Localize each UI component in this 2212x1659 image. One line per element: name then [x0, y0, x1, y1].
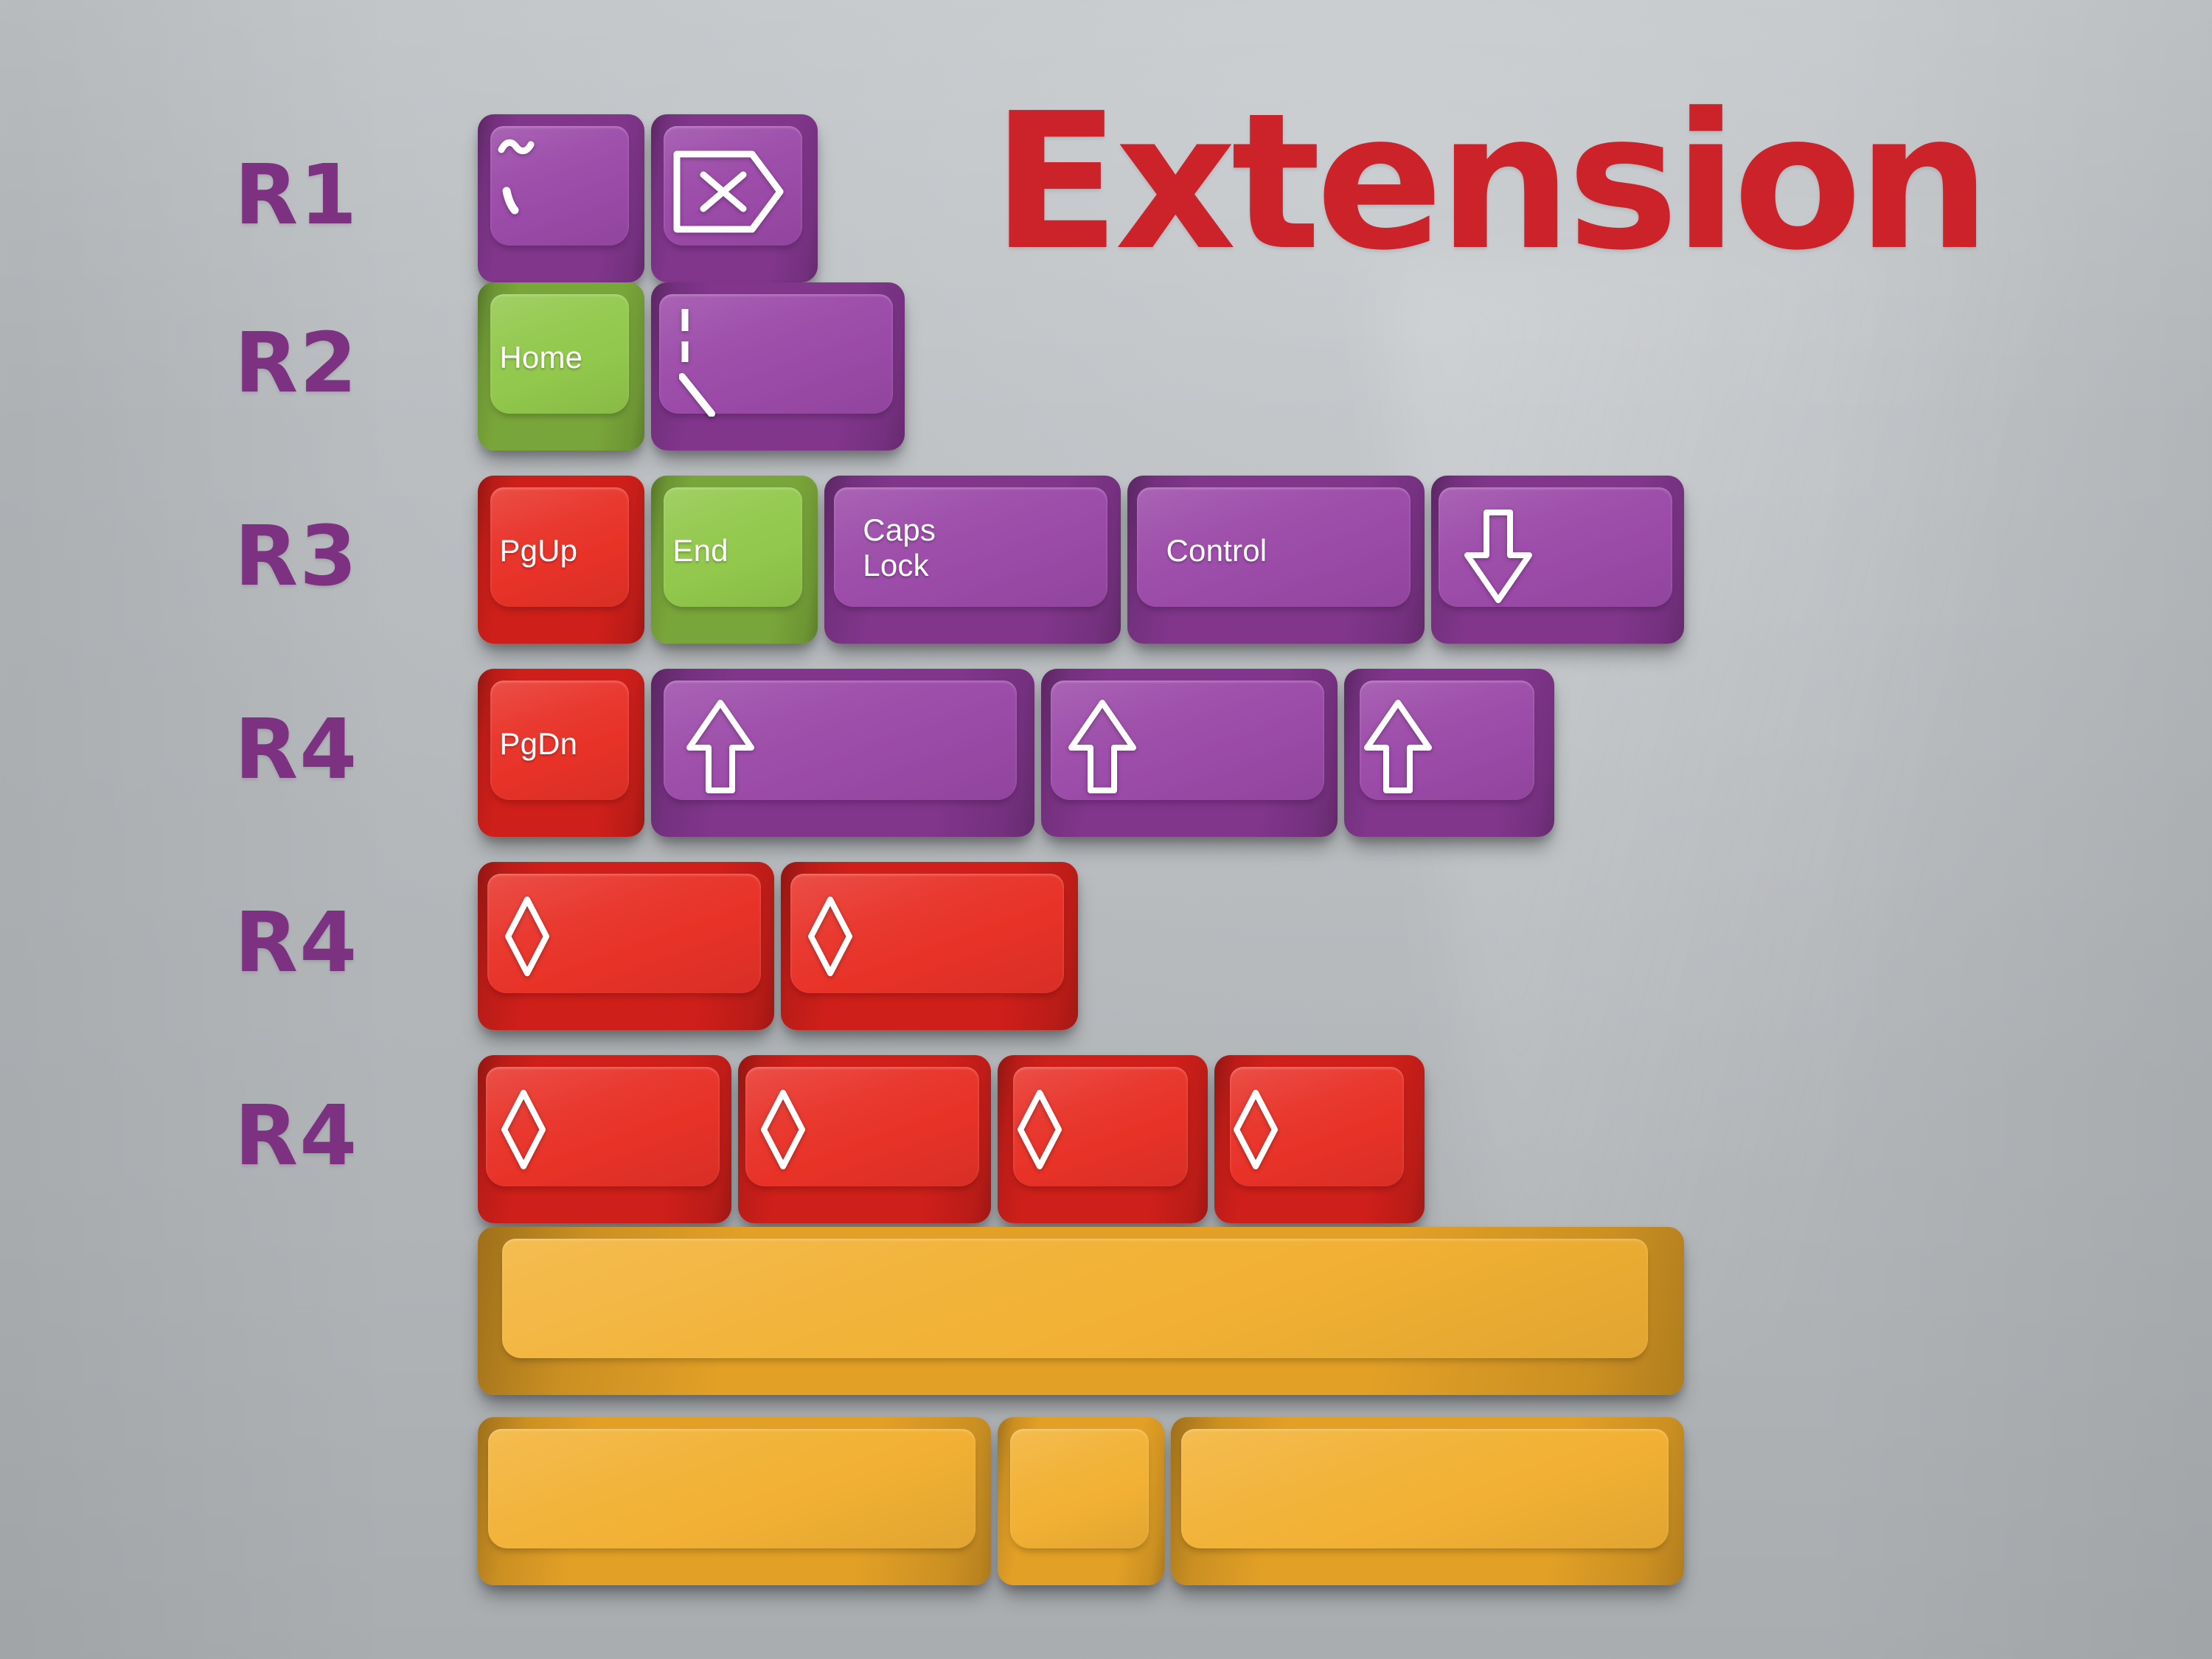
home-key[interactable]: Home [478, 282, 644, 451]
arrow-up-icon [1068, 699, 1137, 793]
pipe-backslash-key[interactable] [651, 282, 905, 451]
tilde-grave-key[interactable] [478, 114, 644, 282]
keycap-legend: PgUp [499, 533, 577, 568]
diamond-icon [760, 1089, 806, 1170]
row-label-r4-4: R4 [234, 902, 358, 984]
diamond-icon [1233, 1089, 1279, 1170]
spacebar-3u-left[interactable] [478, 1417, 991, 1585]
diamond-icon [807, 896, 853, 977]
keycap-top-surface [1181, 1429, 1669, 1548]
diamond-icon [501, 1089, 546, 1170]
page-title: Extension [992, 88, 1986, 276]
shift-key-left[interactable] [651, 669, 1034, 837]
enter-key[interactable] [1431, 476, 1685, 644]
diamond-icon [504, 896, 550, 977]
spacebar-1u[interactable] [998, 1417, 1164, 1585]
row-label-r1-0: R1 [234, 154, 358, 237]
keycap-legend: Home [499, 340, 582, 375]
keycap-legend: PgDn [499, 726, 577, 762]
meta-key-3[interactable] [478, 1055, 731, 1223]
delete-x-icon [672, 148, 785, 235]
meta-key-1[interactable] [478, 862, 774, 1030]
pipe-backslash-icon [679, 306, 726, 417]
tilde-grave-icon [498, 138, 546, 220]
meta-key-2[interactable] [781, 862, 1077, 1030]
meta-key-5[interactable] [998, 1055, 1208, 1223]
keycap-legend: Control [1166, 533, 1267, 568]
row-label-r3-2: R3 [234, 515, 358, 598]
arrow-up-icon [686, 699, 755, 793]
keycap-legend: Caps Lock [863, 512, 936, 584]
backspace-key[interactable] [651, 114, 818, 282]
control-key[interactable]: Control [1127, 476, 1424, 644]
end-key[interactable]: End [651, 476, 818, 644]
keycap-top-surface [488, 1429, 975, 1548]
meta-key-4[interactable] [738, 1055, 992, 1223]
meta-key-6[interactable] [1214, 1055, 1425, 1223]
diamond-icon [1017, 1089, 1062, 1170]
keycap-legend: End [672, 533, 728, 568]
pgdn-key[interactable]: PgDn [478, 669, 644, 837]
keycap-top-surface [1010, 1429, 1149, 1548]
row-label-r4-3: R4 [234, 709, 358, 791]
arrow-up-icon [1363, 699, 1433, 793]
spacebar-7u[interactable] [478, 1227, 1684, 1395]
shift-key-right[interactable] [1344, 669, 1554, 837]
spacebar-3u-right[interactable] [1171, 1417, 1684, 1585]
row-label-r2-1: R2 [234, 322, 358, 405]
arrow-down-icon [1464, 509, 1533, 604]
shift-key-mid[interactable] [1041, 669, 1338, 837]
row-label-r4-5: R4 [234, 1095, 358, 1178]
pgup-key[interactable]: PgUp [478, 476, 644, 644]
keycap-top-surface [502, 1239, 1648, 1358]
caps-lock-key[interactable]: Caps Lock [824, 476, 1121, 644]
